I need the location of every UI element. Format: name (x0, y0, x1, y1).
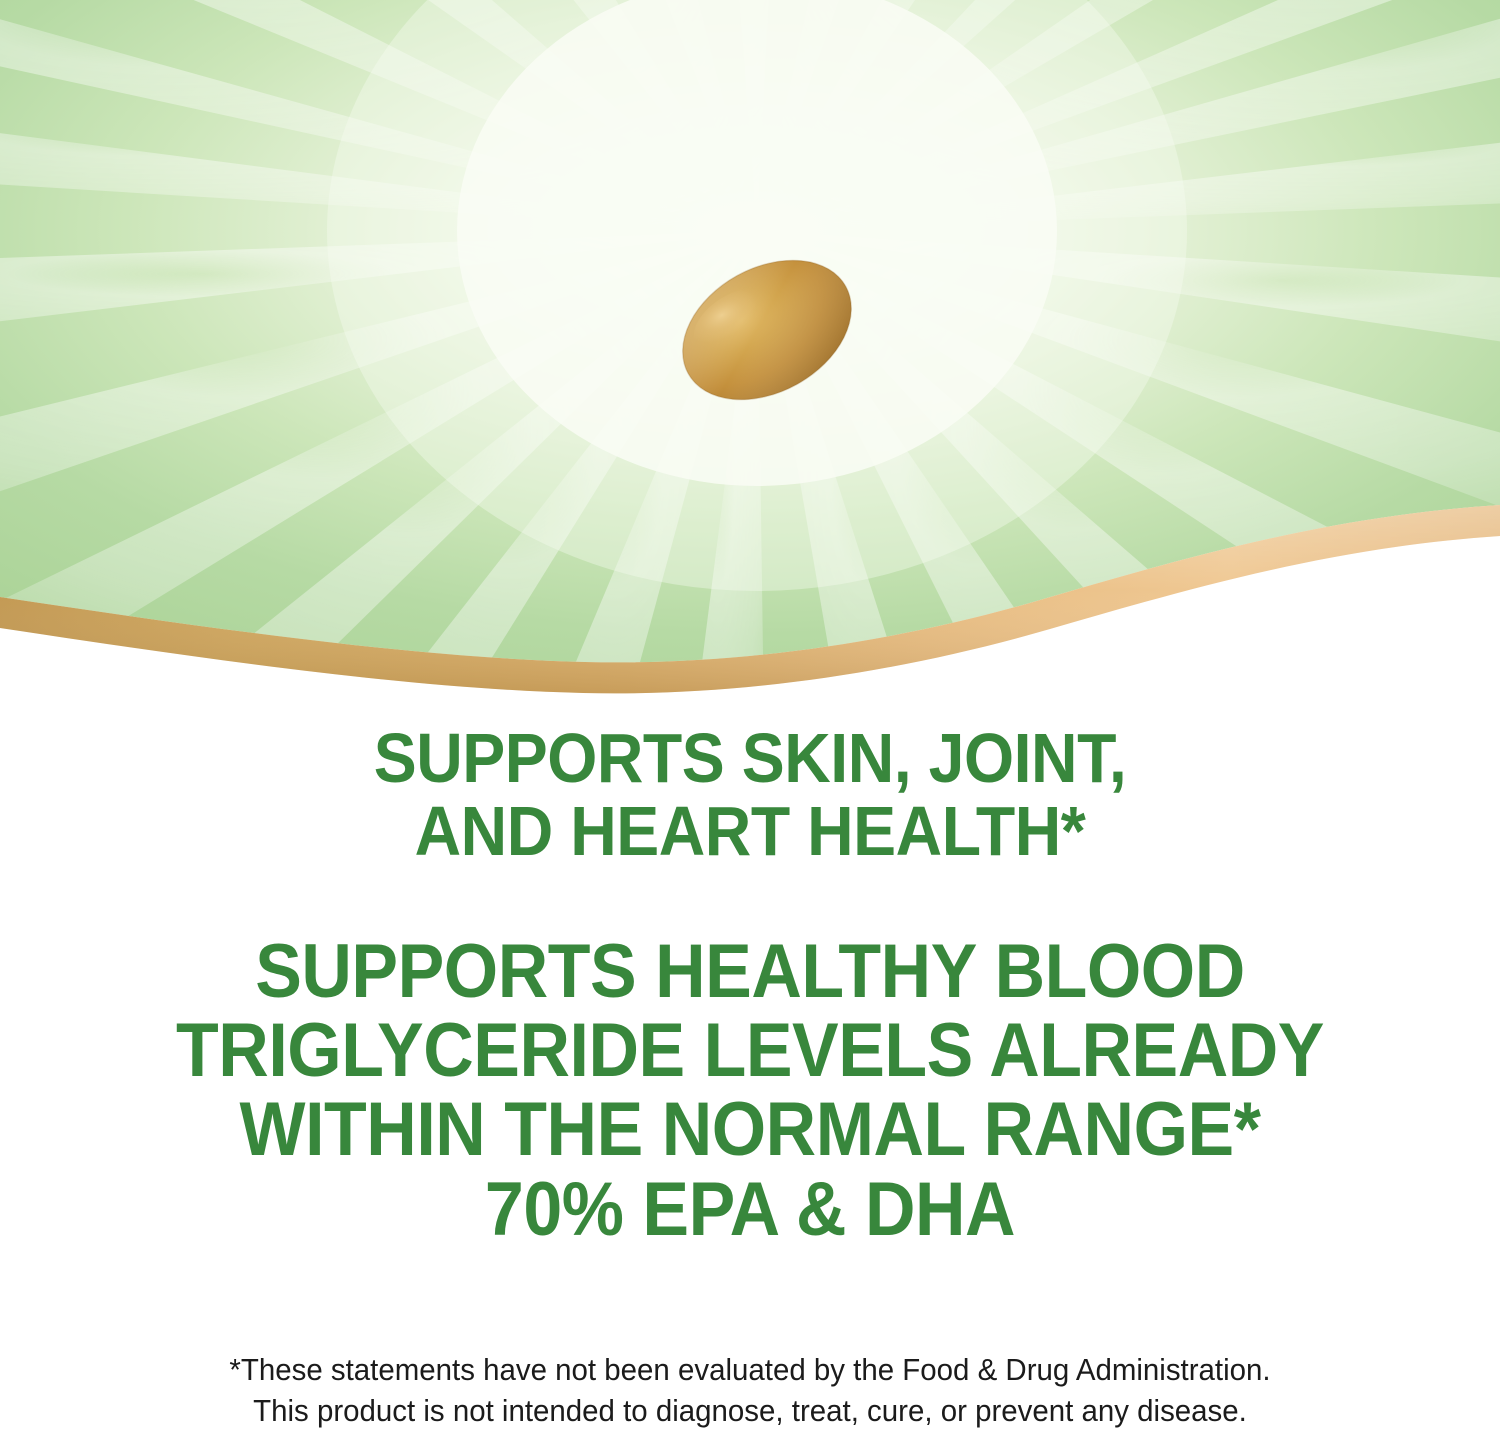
benefit-headline-triglyceride: SUPPORTS HEALTHY BLOOD TRIGLYCERIDE LEVE… (60, 932, 1440, 1169)
benefit-headline-epa-dha: 70% EPA & DHA (60, 1170, 1440, 1249)
product-panel: SUPPORTS SKIN, JOINT, AND HEART HEALTH* … (0, 0, 1500, 1451)
fda-disclaimer: *These statements have not been evaluate… (38, 1350, 1463, 1432)
benefits-section: SUPPORTS SKIN, JOINT, AND HEART HEALTH* … (0, 700, 1500, 1451)
omega-3-softgel (676, 263, 858, 397)
benefit-headline-skin-joint-heart: SUPPORTS SKIN, JOINT, AND HEART HEALTH* (60, 722, 1440, 868)
hero-banner (0, 0, 1500, 700)
